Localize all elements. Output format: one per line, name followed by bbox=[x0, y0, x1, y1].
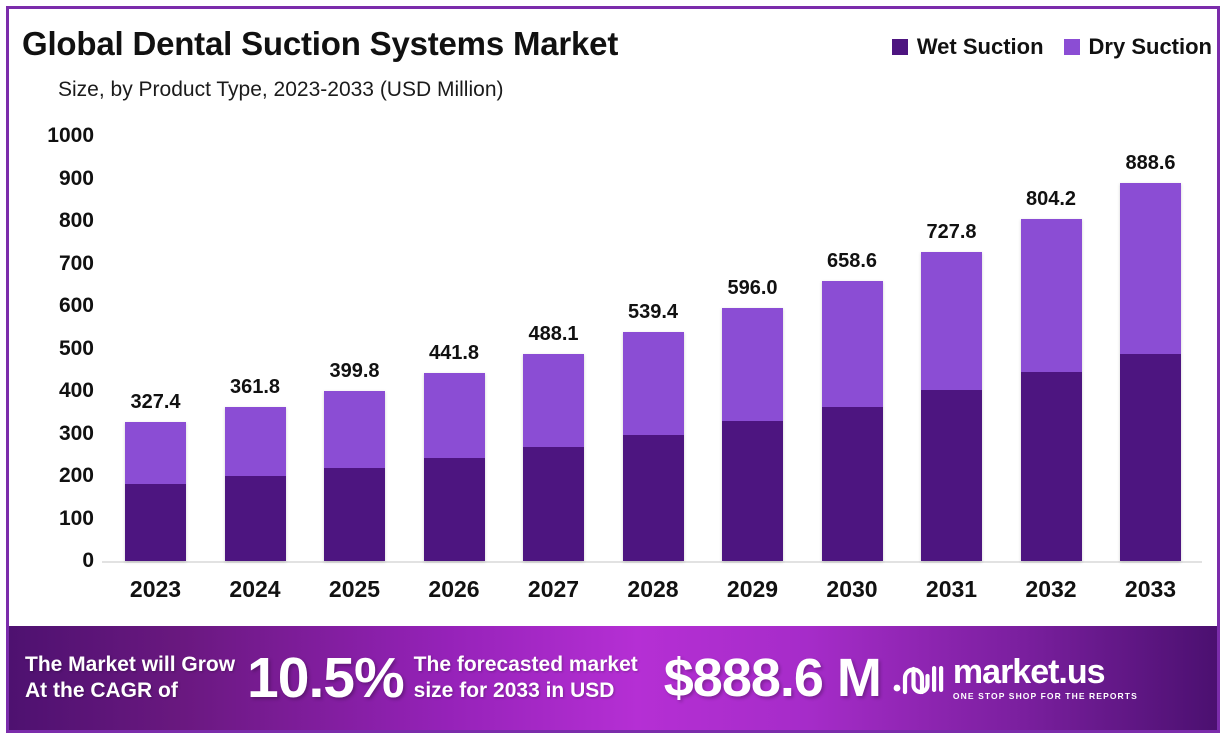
y-axis-tick: 900 bbox=[22, 167, 94, 191]
axis-baseline bbox=[102, 561, 1202, 563]
bar-column[interactable]: 441.8 bbox=[405, 136, 504, 561]
forecast-value: $888.6 M bbox=[664, 647, 881, 709]
bar-total-label: 539.4 bbox=[604, 301, 703, 324]
x-axis-tick: 2027 bbox=[504, 576, 603, 616]
bar-segment-dry-suction[interactable] bbox=[424, 373, 485, 458]
page-subtitle: Size, by Product Type, 2023-2033 (USD Mi… bbox=[58, 78, 1204, 102]
x-axis-tick: 2030 bbox=[803, 576, 902, 616]
x-axis-tick: 2033 bbox=[1101, 576, 1200, 616]
x-axis-tick: 2026 bbox=[405, 576, 504, 616]
legend-label-dry-suction: Dry Suction bbox=[1089, 34, 1212, 60]
footer-banner: The Market will Grow At the CAGR of 10.5… bbox=[9, 626, 1217, 730]
bar-total-label: 488.1 bbox=[504, 323, 603, 346]
y-axis-tick: 1000 bbox=[22, 124, 94, 148]
x-axis: 2023202420252026202720282029203020312032… bbox=[106, 576, 1200, 616]
bar-segment-wet-suction[interactable] bbox=[225, 476, 286, 561]
bar-total-label: 327.4 bbox=[106, 391, 205, 414]
bar-segment-dry-suction[interactable] bbox=[125, 422, 186, 484]
bar-stack[interactable] bbox=[225, 407, 286, 561]
bar-series-group: 327.4361.8399.8441.8488.1539.4596.0658.6… bbox=[106, 136, 1200, 561]
bar-stack[interactable] bbox=[324, 391, 385, 561]
bar-segment-dry-suction[interactable] bbox=[623, 332, 684, 435]
bar-segment-wet-suction[interactable] bbox=[523, 447, 584, 561]
bar-stack[interactable] bbox=[722, 308, 783, 561]
brand-name: market.us bbox=[953, 655, 1138, 689]
cagr-value: 10.5% bbox=[247, 645, 404, 711]
bar-segment-wet-suction[interactable] bbox=[722, 421, 783, 561]
bar-column[interactable]: 327.4 bbox=[106, 136, 205, 561]
forecast-caption-line1: The forecasted market bbox=[414, 652, 638, 678]
x-axis-tick: 2032 bbox=[1002, 576, 1101, 616]
bar-segment-dry-suction[interactable] bbox=[722, 308, 783, 422]
y-axis-tick: 0 bbox=[22, 549, 94, 573]
bar-total-label: 441.8 bbox=[405, 342, 504, 365]
y-axis-tick: 600 bbox=[22, 294, 94, 318]
bar-stack[interactable] bbox=[1021, 219, 1082, 561]
x-axis-tick: 2028 bbox=[604, 576, 703, 616]
bar-segment-wet-suction[interactable] bbox=[921, 390, 982, 561]
bar-segment-dry-suction[interactable] bbox=[523, 354, 584, 448]
x-axis-tick: 2024 bbox=[206, 576, 305, 616]
bar-total-label: 727.8 bbox=[902, 221, 1001, 244]
bar-stack[interactable] bbox=[623, 332, 684, 561]
cagr-caption-line2: At the CAGR of bbox=[25, 678, 235, 704]
bar-column[interactable]: 399.8 bbox=[305, 136, 404, 561]
brand-mark-icon bbox=[891, 658, 945, 698]
cagr-caption: The Market will Grow At the CAGR of bbox=[25, 652, 235, 704]
legend-item-dry-suction[interactable]: Dry Suction bbox=[1064, 34, 1212, 60]
bar-segment-dry-suction[interactable] bbox=[225, 407, 286, 476]
x-axis-tick: 2023 bbox=[106, 576, 205, 616]
bar-segment-wet-suction[interactable] bbox=[1021, 372, 1082, 561]
bar-total-label: 596.0 bbox=[703, 277, 802, 300]
bar-segment-dry-suction[interactable] bbox=[324, 391, 385, 468]
bar-column[interactable]: 596.0 bbox=[703, 136, 802, 561]
bar-total-label: 399.8 bbox=[305, 360, 404, 383]
bar-column[interactable]: 488.1 bbox=[504, 136, 603, 561]
forecast-caption-line2: size for 2033 in USD bbox=[414, 678, 638, 704]
chart-plot-area: 10009008007006005004003002001000 327.436… bbox=[22, 136, 1204, 620]
bar-total-label: 361.8 bbox=[206, 376, 305, 399]
x-axis-tick: 2025 bbox=[305, 576, 404, 616]
y-axis-tick: 100 bbox=[22, 507, 94, 531]
bar-column[interactable]: 888.6 bbox=[1101, 136, 1200, 561]
bar-segment-wet-suction[interactable] bbox=[623, 435, 684, 561]
brand-logo[interactable]: market.us ONE STOP SHOP FOR THE REPORTS bbox=[891, 655, 1138, 701]
bar-segment-wet-suction[interactable] bbox=[324, 468, 385, 561]
bar-segment-dry-suction[interactable] bbox=[1021, 219, 1082, 372]
bar-segment-wet-suction[interactable] bbox=[822, 407, 883, 561]
x-axis-tick: 2031 bbox=[902, 576, 1001, 616]
brand-text: market.us ONE STOP SHOP FOR THE REPORTS bbox=[953, 655, 1138, 701]
bar-column[interactable]: 727.8 bbox=[902, 136, 1001, 561]
legend-swatch-wet-suction bbox=[892, 39, 908, 55]
y-axis: 10009008007006005004003002001000 bbox=[22, 136, 94, 576]
bar-stack[interactable] bbox=[523, 354, 584, 561]
bar-total-label: 804.2 bbox=[1002, 188, 1101, 211]
y-axis-tick: 200 bbox=[22, 464, 94, 488]
bar-segment-dry-suction[interactable] bbox=[822, 281, 883, 406]
y-axis-tick: 300 bbox=[22, 422, 94, 446]
bar-segment-wet-suction[interactable] bbox=[1120, 354, 1181, 561]
bar-segment-wet-suction[interactable] bbox=[424, 458, 485, 561]
bar-total-label: 888.6 bbox=[1101, 152, 1200, 175]
legend-label-wet-suction: Wet Suction bbox=[917, 34, 1044, 60]
bar-column[interactable]: 804.2 bbox=[1002, 136, 1101, 561]
y-axis-tick: 800 bbox=[22, 209, 94, 233]
bar-stack[interactable] bbox=[1120, 183, 1181, 561]
y-axis-tick: 400 bbox=[22, 379, 94, 403]
bar-stack[interactable] bbox=[125, 422, 186, 561]
bar-column[interactable]: 361.8 bbox=[206, 136, 305, 561]
chart-infographic: Global Dental Suction Systems Market Siz… bbox=[0, 0, 1226, 739]
bar-segment-wet-suction[interactable] bbox=[125, 484, 186, 561]
bar-stack[interactable] bbox=[822, 281, 883, 561]
x-axis-tick: 2029 bbox=[703, 576, 802, 616]
bar-stack[interactable] bbox=[921, 252, 982, 561]
chart-legend: Wet Suction Dry Suction bbox=[892, 34, 1212, 60]
legend-item-wet-suction[interactable]: Wet Suction bbox=[892, 34, 1044, 60]
bar-column[interactable]: 658.6 bbox=[803, 136, 902, 561]
forecast-caption: The forecasted market size for 2033 in U… bbox=[414, 652, 638, 704]
cagr-caption-line1: The Market will Grow bbox=[25, 652, 235, 678]
bar-segment-dry-suction[interactable] bbox=[921, 252, 982, 390]
y-axis-tick: 500 bbox=[22, 337, 94, 361]
brand-tagline: ONE STOP SHOP FOR THE REPORTS bbox=[953, 691, 1138, 701]
legend-swatch-dry-suction bbox=[1064, 39, 1080, 55]
bar-segment-dry-suction[interactable] bbox=[1120, 183, 1181, 353]
bar-total-label: 658.6 bbox=[803, 250, 902, 273]
bar-column[interactable]: 539.4 bbox=[604, 136, 703, 561]
bar-stack[interactable] bbox=[424, 373, 485, 561]
y-axis-tick: 700 bbox=[22, 252, 94, 276]
